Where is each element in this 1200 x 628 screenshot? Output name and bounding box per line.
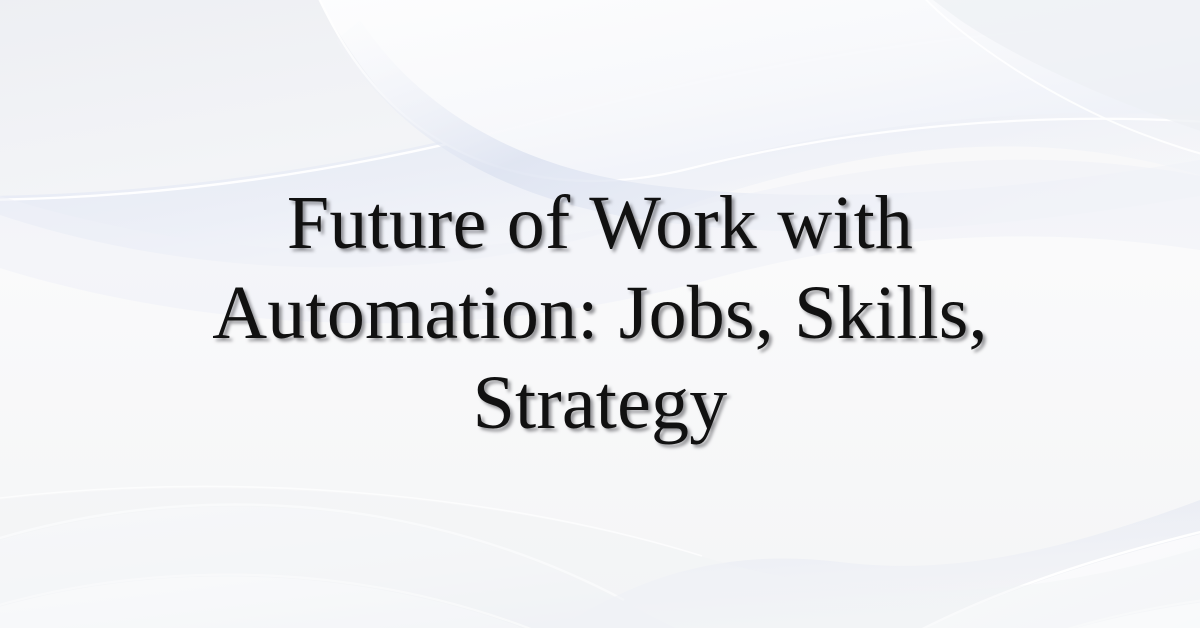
page-title: Future of Work with Automation: Jobs, Sk… <box>170 179 1030 448</box>
title-card: Future of Work with Automation: Jobs, Sk… <box>0 0 1200 628</box>
title-block: Future of Work with Automation: Jobs, Sk… <box>0 0 1200 628</box>
